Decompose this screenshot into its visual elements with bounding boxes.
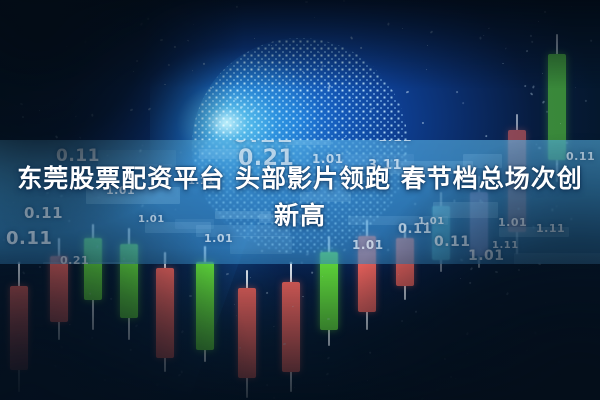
candle-body (10, 286, 28, 370)
candlestick (156, 252, 174, 372)
candle-body (50, 256, 68, 322)
candlestick (238, 270, 256, 398)
candle-body (238, 288, 256, 378)
candle-body (156, 268, 174, 358)
candle-body (196, 262, 214, 350)
candle-body (282, 282, 300, 372)
banner-image: 0.111.011.110.111.010.111.010.210.110.21… (0, 0, 600, 400)
headline: 东莞股票配资平台 头部影片领跑 春节档总场次创 新高 (0, 160, 600, 234)
candlestick (282, 262, 300, 392)
headline-line-1: 东莞股票配资平台 头部影片领跑 春节档总场次创 (14, 160, 586, 197)
candlestick (10, 262, 28, 392)
overlay-number: 1.11 (492, 240, 519, 251)
overlay-number: 1.01 (352, 238, 384, 252)
overlay-number: 1.11 (378, 140, 412, 145)
overlay-number: 0.11 (434, 234, 471, 250)
headline-line-2: 新高 (14, 197, 586, 234)
overlay-number: 0.21 (60, 254, 89, 264)
